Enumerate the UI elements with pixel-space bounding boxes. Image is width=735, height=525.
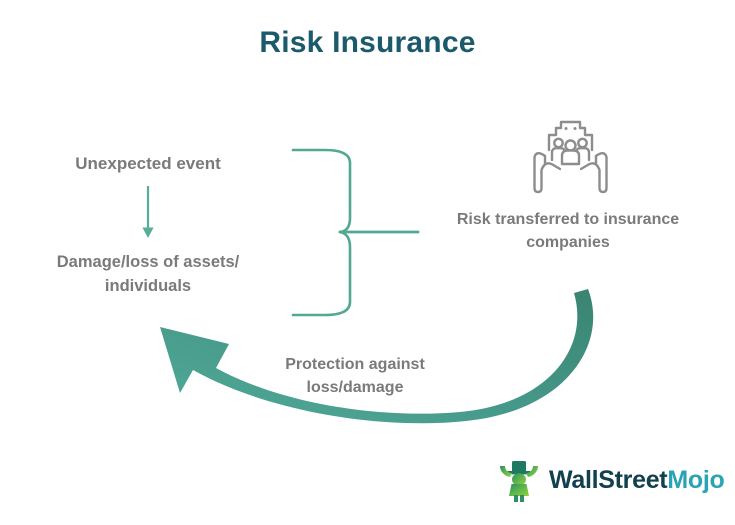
flow-step-risk-transferred: Risk transferred to insurance companies [418, 208, 718, 254]
logo-text-primary: WallStreet [549, 466, 667, 494]
risk-transferred-line-2: companies [418, 231, 718, 254]
risk-insurance-diagram: Risk Insurance Unexpected event Damage/l… [0, 0, 735, 525]
flow-step-protection: Protection against loss/damage [245, 353, 465, 399]
damage-loss-line-1: Damage/loss of assets/ [8, 251, 288, 275]
down-arrow-icon [142, 186, 153, 238]
flow-step-unexpected-event: Unexpected event [18, 152, 278, 177]
wallstreetmojo-mascot-icon [495, 456, 543, 504]
page-title: Risk Insurance [0, 26, 735, 60]
logo-text-secondary: Mojo [667, 466, 724, 494]
damage-loss-line-2: individuals [8, 275, 288, 299]
flow-step-damage-loss: Damage/loss of assets/ individuals [8, 251, 288, 299]
risk-transferred-line-1: Risk transferred to insurance [418, 208, 718, 231]
protection-line-1: Protection against [245, 353, 465, 376]
logo-wordmark: WallStreetMojo [549, 468, 724, 493]
wallstreetmojo-logo[interactable]: WallStreetMojo [495, 455, 717, 505]
hands-holding-people-icon [535, 122, 607, 192]
